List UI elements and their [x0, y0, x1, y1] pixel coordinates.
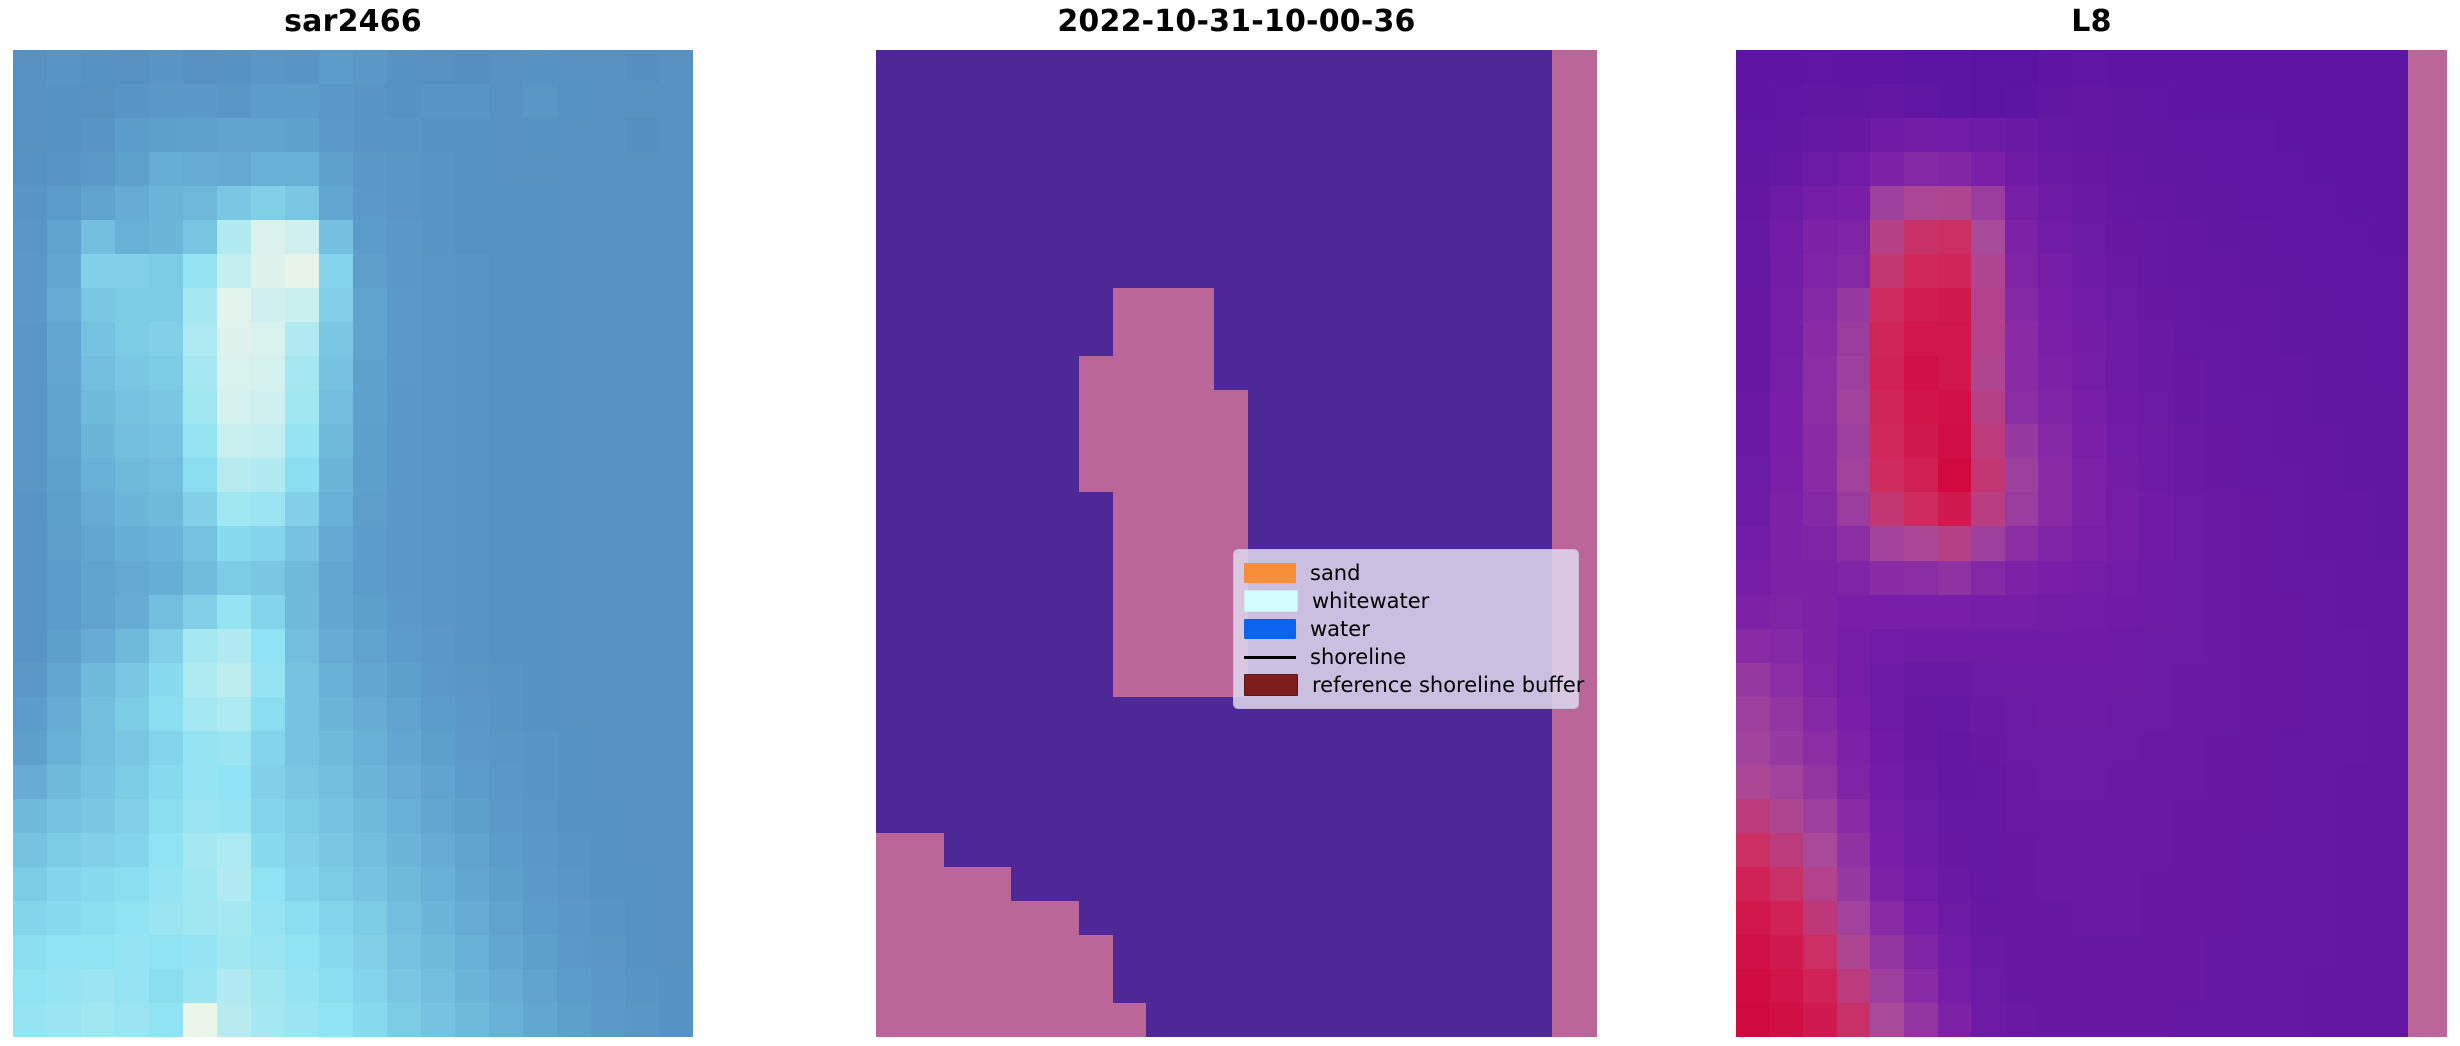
legend-item-shoreline[interactable]: shoreline — [1244, 643, 1566, 671]
legend-item-reference[interactable]: reference shoreline buffer — [1244, 671, 1566, 699]
legend-item-label: reference shoreline buffer — [1312, 675, 1584, 696]
legend[interactable]: sandwhitewaterwatershorelinereference sh… — [1233, 549, 1579, 709]
panel-title-sar2466: sar2466 — [13, 5, 693, 39]
legend-swatch-icon — [1244, 563, 1296, 583]
panel-classification[interactable] — [876, 50, 1597, 1037]
legend-swatch-icon — [1244, 674, 1298, 696]
legend-item-label: shoreline — [1310, 647, 1406, 668]
legend-item-water[interactable]: water — [1244, 615, 1566, 643]
legend-swatch-icon — [1244, 590, 1298, 612]
reference-shoreline-buffer-strip — [2408, 50, 2447, 1037]
legend-swatch-icon — [1244, 656, 1296, 659]
raster-grid — [1736, 50, 2408, 1037]
raster-grid — [13, 50, 693, 1037]
legend-item-label: whitewater — [1312, 591, 1429, 612]
legend-item-label: water — [1310, 619, 1370, 640]
figure-root: sar2466 2022-10-31-10-00-36 L8 sandwhite… — [0, 0, 2460, 1046]
legend-item-label: sand — [1310, 563, 1360, 584]
legend-swatch-icon — [1244, 619, 1296, 639]
panel-l8[interactable] — [1736, 50, 2447, 1037]
raster-grid — [876, 50, 1552, 1037]
panel-sar2466[interactable] — [13, 50, 693, 1037]
panel-title-l8: L8 — [1736, 5, 2447, 39]
legend-item-whitewater[interactable]: whitewater — [1244, 587, 1566, 615]
panel-title-classification: 2022-10-31-10-00-36 — [876, 5, 1597, 39]
legend-item-sand[interactable]: sand — [1244, 559, 1566, 587]
reference-shoreline-buffer-strip — [1552, 50, 1597, 1037]
